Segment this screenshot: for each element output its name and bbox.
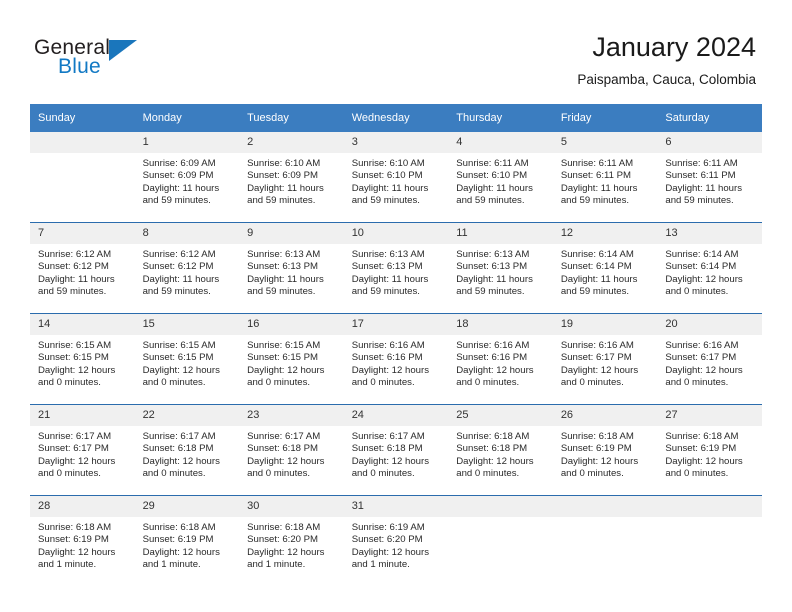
day-number: 11 xyxy=(448,223,553,244)
calendar-day-cell[interactable]: 10Sunrise: 6:13 AMSunset: 6:13 PMDayligh… xyxy=(344,223,449,314)
day-detail-line: Daylight: 12 hours xyxy=(665,365,756,377)
calendar-day-cell[interactable]: 22Sunrise: 6:17 AMSunset: 6:18 PMDayligh… xyxy=(135,405,240,496)
calendar-day-cell[interactable]: 13Sunrise: 6:14 AMSunset: 6:14 PMDayligh… xyxy=(657,223,762,314)
day-number: 7 xyxy=(30,223,135,244)
calendar-day-cell[interactable]: 5Sunrise: 6:11 AMSunset: 6:11 PMDaylight… xyxy=(553,132,658,223)
day-detail-line: Sunrise: 6:12 AM xyxy=(38,249,129,261)
day-details: Sunrise: 6:17 AMSunset: 6:18 PMDaylight:… xyxy=(344,426,449,481)
day-detail-line: Sunrise: 6:14 AM xyxy=(561,249,652,261)
day-details: Sunrise: 6:10 AMSunset: 6:09 PMDaylight:… xyxy=(239,153,344,208)
day-cell-inner xyxy=(657,496,762,586)
day-number: 28 xyxy=(30,496,135,517)
day-details: Sunrise: 6:16 AMSunset: 6:17 PMDaylight:… xyxy=(657,335,762,390)
day-details: Sunrise: 6:15 AMSunset: 6:15 PMDaylight:… xyxy=(30,335,135,390)
day-detail-line: Sunset: 6:10 PM xyxy=(352,170,443,182)
day-detail-line: Daylight: 11 hours xyxy=(665,183,756,195)
page-title: January 2024 xyxy=(577,30,756,64)
calendar-day-cell[interactable]: 20Sunrise: 6:16 AMSunset: 6:17 PMDayligh… xyxy=(657,314,762,405)
calendar-day-cell[interactable]: 19Sunrise: 6:16 AMSunset: 6:17 PMDayligh… xyxy=(553,314,658,405)
day-number: 2 xyxy=(239,132,344,153)
day-detail-line: Sunrise: 6:11 AM xyxy=(665,158,756,170)
day-number: 5 xyxy=(553,132,658,153)
day-detail-line: Sunrise: 6:18 AM xyxy=(561,431,652,443)
day-detail-line: Sunrise: 6:18 AM xyxy=(38,522,129,534)
day-detail-line: and 59 minutes. xyxy=(456,195,547,207)
day-details: Sunrise: 6:18 AMSunset: 6:19 PMDaylight:… xyxy=(135,517,240,572)
day-cell-inner: 7Sunrise: 6:12 AMSunset: 6:12 PMDaylight… xyxy=(30,223,135,313)
day-detail-line: Sunset: 6:17 PM xyxy=(561,352,652,364)
calendar-day-cell[interactable]: 14Sunrise: 6:15 AMSunset: 6:15 PMDayligh… xyxy=(30,314,135,405)
day-detail-line: Daylight: 11 hours xyxy=(561,183,652,195)
day-detail-line: Daylight: 11 hours xyxy=(143,183,234,195)
day-detail-line: and 0 minutes. xyxy=(561,468,652,480)
day-detail-line: Daylight: 12 hours xyxy=(247,365,338,377)
day-details: Sunrise: 6:19 AMSunset: 6:20 PMDaylight:… xyxy=(344,517,449,572)
day-number: 9 xyxy=(239,223,344,244)
day-detail-line: Daylight: 12 hours xyxy=(352,547,443,559)
calendar-week-row: 28Sunrise: 6:18 AMSunset: 6:19 PMDayligh… xyxy=(30,496,762,587)
day-number: 23 xyxy=(239,405,344,426)
calendar-day-cell[interactable]: 17Sunrise: 6:16 AMSunset: 6:16 PMDayligh… xyxy=(344,314,449,405)
day-detail-line: and 59 minutes. xyxy=(665,195,756,207)
day-detail-line: Sunset: 6:09 PM xyxy=(247,170,338,182)
day-number: 31 xyxy=(344,496,449,517)
day-detail-line: Daylight: 11 hours xyxy=(561,274,652,286)
day-detail-line: and 0 minutes. xyxy=(665,286,756,298)
day-number: 3 xyxy=(344,132,449,153)
day-detail-line: and 59 minutes. xyxy=(352,195,443,207)
day-number: 13 xyxy=(657,223,762,244)
day-detail-line: and 59 minutes. xyxy=(456,286,547,298)
day-detail-line: Daylight: 11 hours xyxy=(38,274,129,286)
day-cell-inner: 25Sunrise: 6:18 AMSunset: 6:18 PMDayligh… xyxy=(448,405,553,495)
day-details: Sunrise: 6:11 AMSunset: 6:11 PMDaylight:… xyxy=(553,153,658,208)
day-detail-line: and 0 minutes. xyxy=(561,377,652,389)
day-details: Sunrise: 6:17 AMSunset: 6:18 PMDaylight:… xyxy=(135,426,240,481)
day-detail-line: Sunset: 6:09 PM xyxy=(143,170,234,182)
day-detail-line: and 1 minute. xyxy=(352,559,443,571)
day-cell-inner: 22Sunrise: 6:17 AMSunset: 6:18 PMDayligh… xyxy=(135,405,240,495)
day-cell-inner: 4Sunrise: 6:11 AMSunset: 6:10 PMDaylight… xyxy=(448,132,553,222)
general-blue-logo[interactable]: General Blue xyxy=(34,36,214,86)
day-detail-line: Sunrise: 6:16 AM xyxy=(665,340,756,352)
day-details: Sunrise: 6:18 AMSunset: 6:19 PMDaylight:… xyxy=(30,517,135,572)
day-detail-line: Sunset: 6:14 PM xyxy=(561,261,652,273)
day-cell-inner: 21Sunrise: 6:17 AMSunset: 6:17 PMDayligh… xyxy=(30,405,135,495)
day-number: 17 xyxy=(344,314,449,335)
day-detail-line: Sunset: 6:16 PM xyxy=(352,352,443,364)
calendar-day-cell[interactable]: 27Sunrise: 6:18 AMSunset: 6:19 PMDayligh… xyxy=(657,405,762,496)
calendar-day-cell[interactable]: 12Sunrise: 6:14 AMSunset: 6:14 PMDayligh… xyxy=(553,223,658,314)
day-details: Sunrise: 6:16 AMSunset: 6:16 PMDaylight:… xyxy=(344,335,449,390)
day-detail-line: Sunset: 6:13 PM xyxy=(247,261,338,273)
day-details: Sunrise: 6:11 AMSunset: 6:10 PMDaylight:… xyxy=(448,153,553,208)
calendar-empty-cell xyxy=(30,132,135,223)
calendar-body: 1Sunrise: 6:09 AMSunset: 6:09 PMDaylight… xyxy=(30,132,762,586)
calendar-week-row: 14Sunrise: 6:15 AMSunset: 6:15 PMDayligh… xyxy=(30,314,762,405)
day-detail-line: Sunset: 6:19 PM xyxy=(665,443,756,455)
day-detail-line: Sunrise: 6:16 AM xyxy=(352,340,443,352)
day-detail-line: and 59 minutes. xyxy=(143,195,234,207)
weekday-header-saturday: Saturday xyxy=(657,104,762,132)
day-cell-inner: 18Sunrise: 6:16 AMSunset: 6:16 PMDayligh… xyxy=(448,314,553,404)
calendar-header-row: Sunday Monday Tuesday Wednesday Thursday… xyxy=(30,104,762,132)
day-number: 21 xyxy=(30,405,135,426)
day-detail-line: and 59 minutes. xyxy=(247,286,338,298)
day-detail-line: Sunset: 6:18 PM xyxy=(456,443,547,455)
day-details: Sunrise: 6:13 AMSunset: 6:13 PMDaylight:… xyxy=(239,244,344,299)
day-detail-line: Daylight: 12 hours xyxy=(456,456,547,468)
day-detail-line: and 0 minutes. xyxy=(143,468,234,480)
calendar-day-cell[interactable]: 2Sunrise: 6:10 AMSunset: 6:09 PMDaylight… xyxy=(239,132,344,223)
day-details: Sunrise: 6:18 AMSunset: 6:18 PMDaylight:… xyxy=(448,426,553,481)
calendar-day-cell[interactable]: 15Sunrise: 6:15 AMSunset: 6:15 PMDayligh… xyxy=(135,314,240,405)
day-number: 14 xyxy=(30,314,135,335)
calendar-day-cell[interactable]: 9Sunrise: 6:13 AMSunset: 6:13 PMDaylight… xyxy=(239,223,344,314)
calendar-day-cell[interactable]: 8Sunrise: 6:12 AMSunset: 6:12 PMDaylight… xyxy=(135,223,240,314)
day-detail-line: and 0 minutes. xyxy=(456,468,547,480)
day-detail-line: and 0 minutes. xyxy=(665,377,756,389)
calendar-day-cell[interactable]: 31Sunrise: 6:19 AMSunset: 6:20 PMDayligh… xyxy=(344,496,449,587)
day-detail-line: Sunset: 6:19 PM xyxy=(561,443,652,455)
day-number: 24 xyxy=(344,405,449,426)
day-details: Sunrise: 6:09 AMSunset: 6:09 PMDaylight:… xyxy=(135,153,240,208)
day-detail-line: Sunset: 6:13 PM xyxy=(352,261,443,273)
day-detail-line: Sunrise: 6:18 AM xyxy=(665,431,756,443)
day-detail-line: Sunrise: 6:14 AM xyxy=(665,249,756,261)
day-detail-line: Daylight: 12 hours xyxy=(143,365,234,377)
calendar-day-cell[interactable]: 7Sunrise: 6:12 AMSunset: 6:12 PMDaylight… xyxy=(30,223,135,314)
day-detail-line: and 0 minutes. xyxy=(352,468,443,480)
calendar-week-row: 21Sunrise: 6:17 AMSunset: 6:17 PMDayligh… xyxy=(30,405,762,496)
calendar-day-cell[interactable]: 16Sunrise: 6:15 AMSunset: 6:15 PMDayligh… xyxy=(239,314,344,405)
day-details: Sunrise: 6:13 AMSunset: 6:13 PMDaylight:… xyxy=(448,244,553,299)
day-cell-inner: 20Sunrise: 6:16 AMSunset: 6:17 PMDayligh… xyxy=(657,314,762,404)
day-detail-line: Sunset: 6:19 PM xyxy=(38,534,129,546)
day-cell-inner: 5Sunrise: 6:11 AMSunset: 6:11 PMDaylight… xyxy=(553,132,658,222)
day-detail-line: Daylight: 12 hours xyxy=(247,456,338,468)
logo-text-blue: Blue xyxy=(58,55,101,79)
day-detail-line: and 59 minutes. xyxy=(247,195,338,207)
day-detail-line: Daylight: 12 hours xyxy=(143,456,234,468)
day-details: Sunrise: 6:14 AMSunset: 6:14 PMDaylight:… xyxy=(553,244,658,299)
day-detail-line: and 0 minutes. xyxy=(247,377,338,389)
day-detail-line: Daylight: 12 hours xyxy=(665,456,756,468)
day-detail-line: and 0 minutes. xyxy=(456,377,547,389)
day-detail-line: Sunset: 6:12 PM xyxy=(38,261,129,273)
day-detail-line: Sunset: 6:18 PM xyxy=(247,443,338,455)
day-detail-line: and 59 minutes. xyxy=(143,286,234,298)
day-cell-inner xyxy=(448,496,553,586)
day-detail-line: Sunrise: 6:13 AM xyxy=(456,249,547,261)
day-detail-line: Daylight: 11 hours xyxy=(456,183,547,195)
day-cell-inner: 14Sunrise: 6:15 AMSunset: 6:15 PMDayligh… xyxy=(30,314,135,404)
logo-triangle-icon xyxy=(109,40,137,61)
calendar-day-cell[interactable]: 24Sunrise: 6:17 AMSunset: 6:18 PMDayligh… xyxy=(344,405,449,496)
calendar-day-cell[interactable]: 29Sunrise: 6:18 AMSunset: 6:19 PMDayligh… xyxy=(135,496,240,587)
day-cell-inner: 11Sunrise: 6:13 AMSunset: 6:13 PMDayligh… xyxy=(448,223,553,313)
calendar-day-cell[interactable]: 3Sunrise: 6:10 AMSunset: 6:10 PMDaylight… xyxy=(344,132,449,223)
day-cell-inner: 24Sunrise: 6:17 AMSunset: 6:18 PMDayligh… xyxy=(344,405,449,495)
calendar-day-cell[interactable]: 4Sunrise: 6:11 AMSunset: 6:10 PMDaylight… xyxy=(448,132,553,223)
day-detail-line: and 0 minutes. xyxy=(38,377,129,389)
day-number: 26 xyxy=(553,405,658,426)
day-detail-line: Daylight: 12 hours xyxy=(352,365,443,377)
day-number: 12 xyxy=(553,223,658,244)
day-detail-line: Sunset: 6:10 PM xyxy=(456,170,547,182)
day-detail-line: and 0 minutes. xyxy=(352,377,443,389)
day-detail-line: Daylight: 12 hours xyxy=(38,547,129,559)
calendar-day-cell[interactable]: 23Sunrise: 6:17 AMSunset: 6:18 PMDayligh… xyxy=(239,405,344,496)
day-detail-line: Daylight: 12 hours xyxy=(38,456,129,468)
calendar-day-cell[interactable]: 28Sunrise: 6:18 AMSunset: 6:19 PMDayligh… xyxy=(30,496,135,587)
day-details: Sunrise: 6:15 AMSunset: 6:15 PMDaylight:… xyxy=(135,335,240,390)
calendar-day-cell[interactable]: 1Sunrise: 6:09 AMSunset: 6:09 PMDaylight… xyxy=(135,132,240,223)
day-detail-line: Sunrise: 6:13 AM xyxy=(247,249,338,261)
day-details: Sunrise: 6:12 AMSunset: 6:12 PMDaylight:… xyxy=(135,244,240,299)
calendar-day-cell[interactable]: 11Sunrise: 6:13 AMSunset: 6:13 PMDayligh… xyxy=(448,223,553,314)
day-details: Sunrise: 6:10 AMSunset: 6:10 PMDaylight:… xyxy=(344,153,449,208)
day-detail-line: Sunrise: 6:18 AM xyxy=(143,522,234,534)
day-detail-line: Daylight: 12 hours xyxy=(665,274,756,286)
day-number: 6 xyxy=(657,132,762,153)
day-cell-inner: 6Sunrise: 6:11 AMSunset: 6:11 PMDaylight… xyxy=(657,132,762,222)
day-detail-line: Daylight: 12 hours xyxy=(561,365,652,377)
calendar-grid: Sunday Monday Tuesday Wednesday Thursday… xyxy=(30,104,762,586)
calendar-day-cell[interactable]: 25Sunrise: 6:18 AMSunset: 6:18 PMDayligh… xyxy=(448,405,553,496)
day-number: 20 xyxy=(657,314,762,335)
day-detail-line: and 1 minute. xyxy=(247,559,338,571)
day-detail-line: Sunset: 6:11 PM xyxy=(561,170,652,182)
day-cell-inner: 10Sunrise: 6:13 AMSunset: 6:13 PMDayligh… xyxy=(344,223,449,313)
day-cell-inner xyxy=(30,132,135,222)
day-detail-line: Sunrise: 6:16 AM xyxy=(456,340,547,352)
day-number: 29 xyxy=(135,496,240,517)
calendar-day-cell[interactable]: 21Sunrise: 6:17 AMSunset: 6:17 PMDayligh… xyxy=(30,405,135,496)
day-detail-line: Sunset: 6:11 PM xyxy=(665,170,756,182)
day-number xyxy=(657,496,762,517)
day-number: 1 xyxy=(135,132,240,153)
day-detail-line: Sunrise: 6:16 AM xyxy=(561,340,652,352)
day-detail-line: Sunrise: 6:15 AM xyxy=(38,340,129,352)
day-detail-line: Sunset: 6:16 PM xyxy=(456,352,547,364)
calendar-day-cell[interactable]: 18Sunrise: 6:16 AMSunset: 6:16 PMDayligh… xyxy=(448,314,553,405)
weekday-header-thursday: Thursday xyxy=(448,104,553,132)
day-details: Sunrise: 6:17 AMSunset: 6:18 PMDaylight:… xyxy=(239,426,344,481)
day-details: Sunrise: 6:13 AMSunset: 6:13 PMDaylight:… xyxy=(344,244,449,299)
day-cell-inner: 26Sunrise: 6:18 AMSunset: 6:19 PMDayligh… xyxy=(553,405,658,495)
day-number: 16 xyxy=(239,314,344,335)
day-detail-line: Sunset: 6:17 PM xyxy=(38,443,129,455)
calendar-page: General Blue January 2024 Paispamba, Cau… xyxy=(0,0,792,612)
day-details: Sunrise: 6:14 AMSunset: 6:14 PMDaylight:… xyxy=(657,244,762,299)
day-detail-line: and 0 minutes. xyxy=(143,377,234,389)
calendar-empty-cell xyxy=(448,496,553,587)
day-detail-line: Sunset: 6:15 PM xyxy=(38,352,129,364)
day-number: 19 xyxy=(553,314,658,335)
day-detail-line: Sunrise: 6:19 AM xyxy=(352,522,443,534)
day-cell-inner: 27Sunrise: 6:18 AMSunset: 6:19 PMDayligh… xyxy=(657,405,762,495)
day-cell-inner: 19Sunrise: 6:16 AMSunset: 6:17 PMDayligh… xyxy=(553,314,658,404)
day-detail-line: Sunrise: 6:13 AM xyxy=(352,249,443,261)
day-detail-line: Daylight: 11 hours xyxy=(247,274,338,286)
day-detail-line: Daylight: 11 hours xyxy=(247,183,338,195)
day-cell-inner: 9Sunrise: 6:13 AMSunset: 6:13 PMDaylight… xyxy=(239,223,344,313)
calendar-week-row: 7Sunrise: 6:12 AMSunset: 6:12 PMDaylight… xyxy=(30,223,762,314)
day-detail-line: Daylight: 11 hours xyxy=(143,274,234,286)
day-number xyxy=(553,496,658,517)
day-cell-inner: 31Sunrise: 6:19 AMSunset: 6:20 PMDayligh… xyxy=(344,496,449,586)
day-detail-line: Sunrise: 6:11 AM xyxy=(456,158,547,170)
day-details: Sunrise: 6:18 AMSunset: 6:19 PMDaylight:… xyxy=(657,426,762,481)
day-detail-line: Sunset: 6:18 PM xyxy=(352,443,443,455)
day-detail-line: Sunrise: 6:17 AM xyxy=(247,431,338,443)
day-cell-inner: 28Sunrise: 6:18 AMSunset: 6:19 PMDayligh… xyxy=(30,496,135,586)
day-cell-inner: 17Sunrise: 6:16 AMSunset: 6:16 PMDayligh… xyxy=(344,314,449,404)
day-detail-line: Daylight: 12 hours xyxy=(143,547,234,559)
day-detail-line: Sunrise: 6:17 AM xyxy=(352,431,443,443)
day-details: Sunrise: 6:16 AMSunset: 6:17 PMDaylight:… xyxy=(553,335,658,390)
weekday-header-sunday: Sunday xyxy=(30,104,135,132)
page-header: General Blue January 2024 Paispamba, Cau… xyxy=(0,0,792,104)
day-cell-inner: 16Sunrise: 6:15 AMSunset: 6:15 PMDayligh… xyxy=(239,314,344,404)
day-detail-line: Daylight: 11 hours xyxy=(352,183,443,195)
day-detail-line: Sunrise: 6:15 AM xyxy=(247,340,338,352)
day-detail-line: and 59 minutes. xyxy=(561,286,652,298)
day-details: Sunrise: 6:16 AMSunset: 6:16 PMDaylight:… xyxy=(448,335,553,390)
day-detail-line: Sunset: 6:17 PM xyxy=(665,352,756,364)
day-detail-line: Sunset: 6:13 PM xyxy=(456,261,547,273)
day-detail-line: Daylight: 12 hours xyxy=(38,365,129,377)
day-detail-line: Sunrise: 6:12 AM xyxy=(143,249,234,261)
day-detail-line: and 1 minute. xyxy=(143,559,234,571)
day-detail-line: and 0 minutes. xyxy=(38,468,129,480)
day-cell-inner xyxy=(553,496,658,586)
day-detail-line: and 1 minute. xyxy=(38,559,129,571)
day-details: Sunrise: 6:15 AMSunset: 6:15 PMDaylight:… xyxy=(239,335,344,390)
day-detail-line: Sunset: 6:18 PM xyxy=(143,443,234,455)
day-details: Sunrise: 6:18 AMSunset: 6:19 PMDaylight:… xyxy=(553,426,658,481)
day-detail-line: and 0 minutes. xyxy=(665,468,756,480)
day-detail-line: Sunset: 6:20 PM xyxy=(247,534,338,546)
day-cell-inner: 2Sunrise: 6:10 AMSunset: 6:09 PMDaylight… xyxy=(239,132,344,222)
day-detail-line: and 0 minutes. xyxy=(247,468,338,480)
day-detail-line: Sunrise: 6:15 AM xyxy=(143,340,234,352)
day-details: Sunrise: 6:18 AMSunset: 6:20 PMDaylight:… xyxy=(239,517,344,572)
calendar-week-row: 1Sunrise: 6:09 AMSunset: 6:09 PMDaylight… xyxy=(30,132,762,223)
day-detail-line: Sunrise: 6:09 AM xyxy=(143,158,234,170)
calendar-day-cell[interactable]: 6Sunrise: 6:11 AMSunset: 6:11 PMDaylight… xyxy=(657,132,762,223)
day-detail-line: and 59 minutes. xyxy=(352,286,443,298)
day-detail-line: Sunrise: 6:18 AM xyxy=(456,431,547,443)
day-number: 18 xyxy=(448,314,553,335)
day-detail-line: Sunrise: 6:18 AM xyxy=(247,522,338,534)
day-detail-line: Daylight: 12 hours xyxy=(456,365,547,377)
day-detail-line: Daylight: 11 hours xyxy=(456,274,547,286)
weekday-header-friday: Friday xyxy=(553,104,658,132)
day-number xyxy=(448,496,553,517)
day-detail-line: and 59 minutes. xyxy=(561,195,652,207)
day-cell-inner: 12Sunrise: 6:14 AMSunset: 6:14 PMDayligh… xyxy=(553,223,658,313)
day-cell-inner: 13Sunrise: 6:14 AMSunset: 6:14 PMDayligh… xyxy=(657,223,762,313)
day-detail-line: Sunrise: 6:11 AM xyxy=(561,158,652,170)
day-details: Sunrise: 6:17 AMSunset: 6:17 PMDaylight:… xyxy=(30,426,135,481)
day-number: 30 xyxy=(239,496,344,517)
day-detail-line: Daylight: 12 hours xyxy=(247,547,338,559)
weekday-header-tuesday: Tuesday xyxy=(239,104,344,132)
weekday-header-monday: Monday xyxy=(135,104,240,132)
day-detail-line: Sunset: 6:15 PM xyxy=(143,352,234,364)
day-cell-inner: 1Sunrise: 6:09 AMSunset: 6:09 PMDaylight… xyxy=(135,132,240,222)
day-number: 8 xyxy=(135,223,240,244)
day-details: Sunrise: 6:11 AMSunset: 6:11 PMDaylight:… xyxy=(657,153,762,208)
day-number xyxy=(30,132,135,153)
day-detail-line: Sunset: 6:15 PM xyxy=(247,352,338,364)
page-subtitle: Paispamba, Cauca, Colombia xyxy=(577,70,756,90)
day-detail-line: Sunrise: 6:17 AM xyxy=(143,431,234,443)
day-cell-inner: 30Sunrise: 6:18 AMSunset: 6:20 PMDayligh… xyxy=(239,496,344,586)
day-cell-inner: 29Sunrise: 6:18 AMSunset: 6:19 PMDayligh… xyxy=(135,496,240,586)
day-number: 27 xyxy=(657,405,762,426)
day-detail-line: Daylight: 12 hours xyxy=(561,456,652,468)
weekday-header-wednesday: Wednesday xyxy=(344,104,449,132)
day-number: 25 xyxy=(448,405,553,426)
day-detail-line: Daylight: 11 hours xyxy=(352,274,443,286)
day-detail-line: Sunset: 6:14 PM xyxy=(665,261,756,273)
day-number: 22 xyxy=(135,405,240,426)
calendar-empty-cell xyxy=(657,496,762,587)
day-cell-inner: 3Sunrise: 6:10 AMSunset: 6:10 PMDaylight… xyxy=(344,132,449,222)
calendar-day-cell[interactable]: 30Sunrise: 6:18 AMSunset: 6:20 PMDayligh… xyxy=(239,496,344,587)
day-detail-line: Sunset: 6:12 PM xyxy=(143,261,234,273)
day-number: 4 xyxy=(448,132,553,153)
day-cell-inner: 15Sunrise: 6:15 AMSunset: 6:15 PMDayligh… xyxy=(135,314,240,404)
day-cell-inner: 8Sunrise: 6:12 AMSunset: 6:12 PMDaylight… xyxy=(135,223,240,313)
day-detail-line: Sunrise: 6:10 AM xyxy=(352,158,443,170)
day-detail-line: and 59 minutes. xyxy=(38,286,129,298)
day-number: 15 xyxy=(135,314,240,335)
calendar-day-cell[interactable]: 26Sunrise: 6:18 AMSunset: 6:19 PMDayligh… xyxy=(553,405,658,496)
day-detail-line: Sunrise: 6:10 AM xyxy=(247,158,338,170)
day-cell-inner: 23Sunrise: 6:17 AMSunset: 6:18 PMDayligh… xyxy=(239,405,344,495)
day-detail-line: Sunrise: 6:17 AM xyxy=(38,431,129,443)
day-details: Sunrise: 6:12 AMSunset: 6:12 PMDaylight:… xyxy=(30,244,135,299)
day-detail-line: Daylight: 12 hours xyxy=(352,456,443,468)
calendar-empty-cell xyxy=(553,496,658,587)
day-number: 10 xyxy=(344,223,449,244)
title-block: January 2024 Paispamba, Cauca, Colombia xyxy=(577,30,756,90)
day-detail-line: Sunset: 6:19 PM xyxy=(143,534,234,546)
day-detail-line: Sunset: 6:20 PM xyxy=(352,534,443,546)
